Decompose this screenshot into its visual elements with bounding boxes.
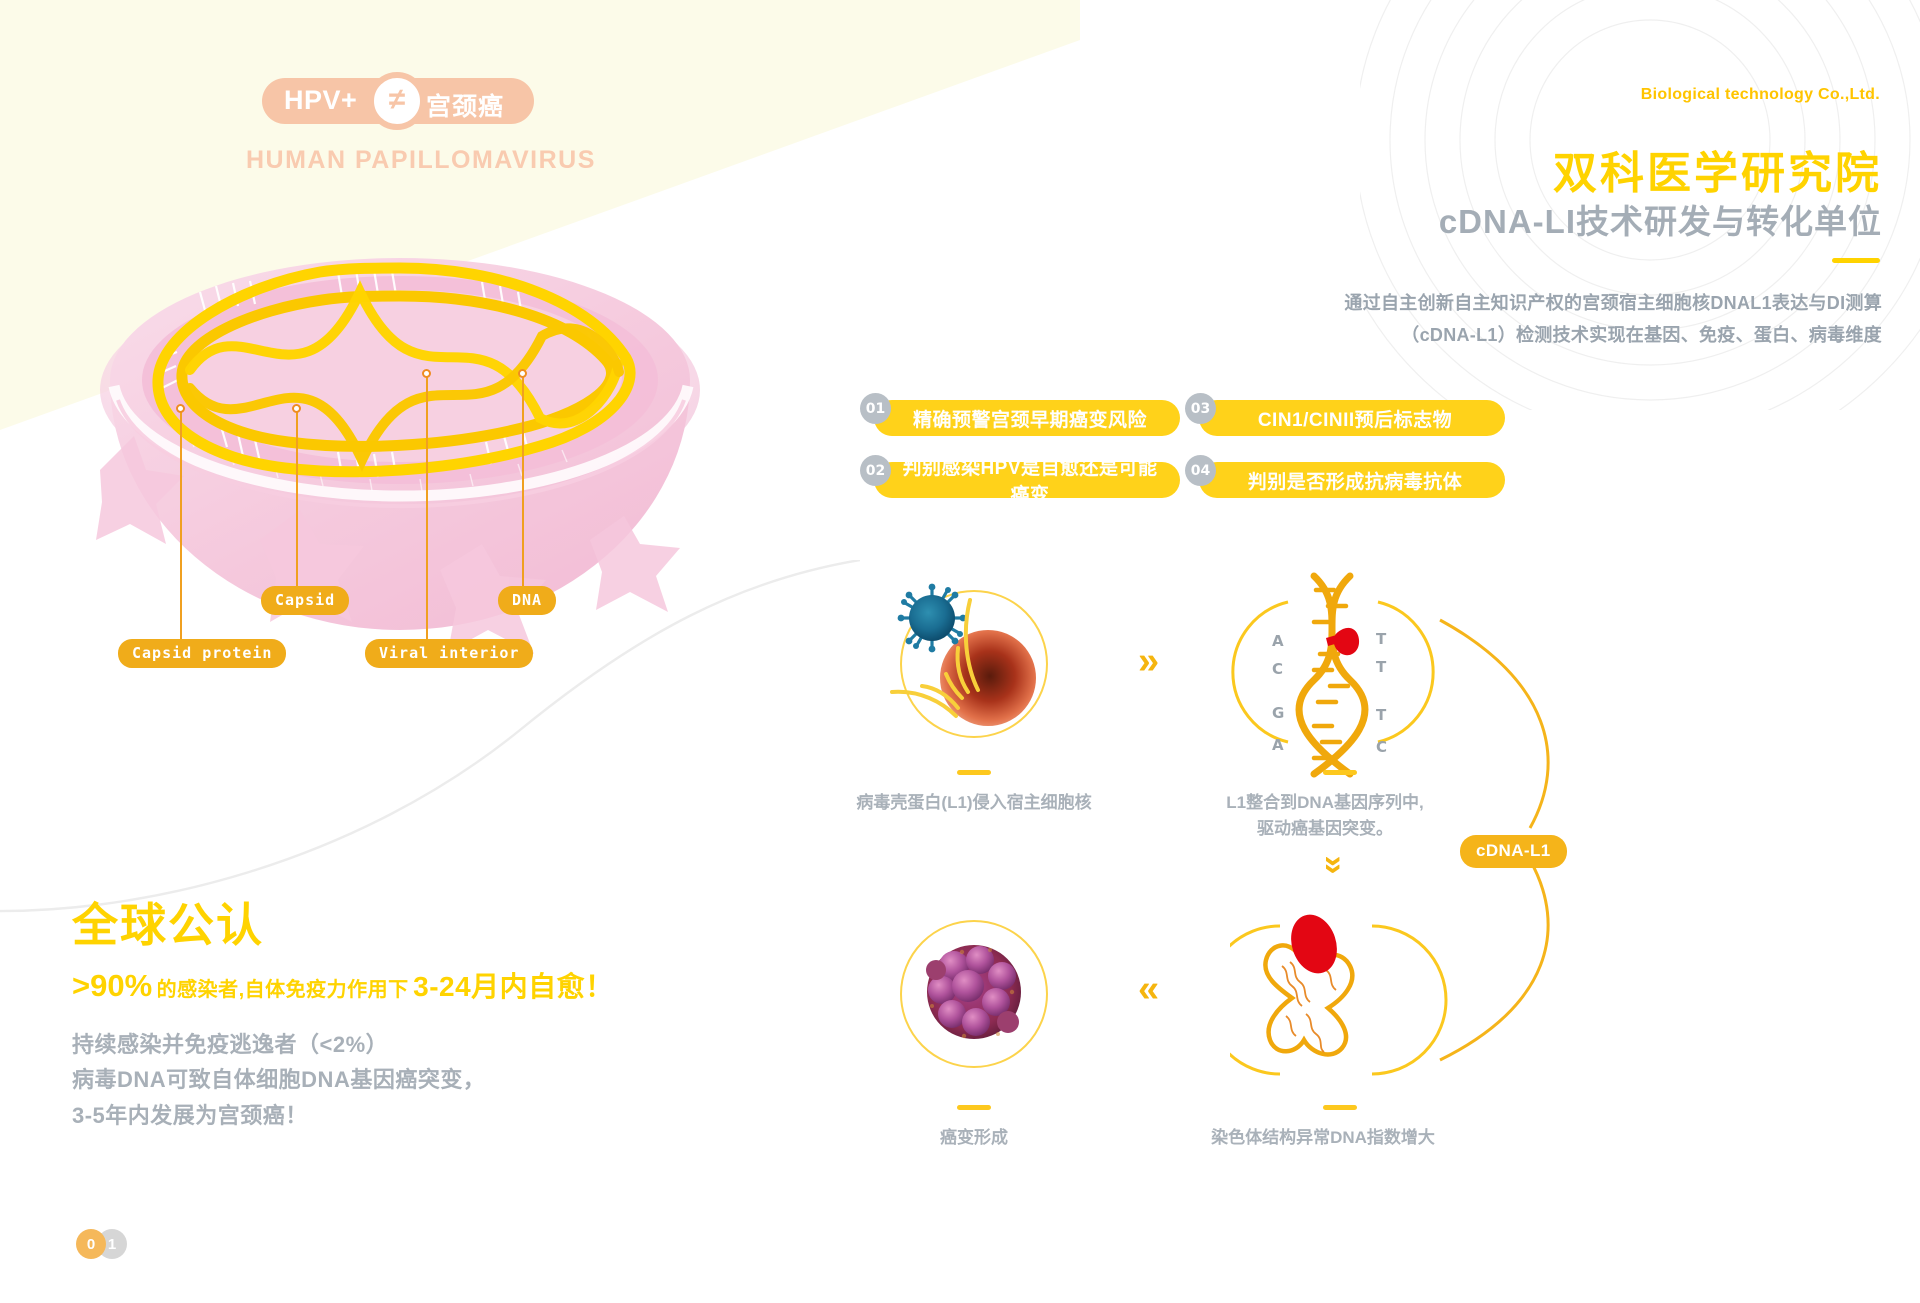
cancer-mass-illustration	[912, 930, 1062, 1080]
feature-number-04: 04	[1185, 455, 1216, 486]
global-stat-emphasis: 3-24月内自愈！	[413, 971, 614, 1002]
page-number-left: 0 1	[76, 1229, 127, 1259]
global-stat-line: >90% 的感染者,自体免疫力作用下 3-24月内自愈！	[72, 965, 772, 1005]
infographic-page: HPV+ ≠ 宫颈癌 HUMAN PAPILLOMAVIRUS	[0, 0, 1920, 1303]
cdna-l1-badge[interactable]: cDNA-L1	[1460, 835, 1567, 868]
callout-line-dna	[522, 377, 524, 587]
svg-text:A: A	[1272, 736, 1284, 754]
right-panel: Biological technology Co.,Ltd. 双科医学研究院 c…	[1040, 0, 1920, 1303]
global-recognition-block: 全球公认 >90% 的感染者,自体免疫力作用下 3-24月内自愈！ 持续感染并免…	[72, 900, 772, 1133]
step1-dash	[957, 770, 991, 775]
feature-pill-01: 精确预警宫颈早期癌变风险	[874, 400, 1180, 436]
company-tag: Biological technology Co.,Ltd.	[1641, 86, 1880, 104]
svg-text:A: A	[1272, 632, 1284, 650]
svg-text:T: T	[1376, 658, 1387, 676]
chevron-down-icon: »	[1317, 856, 1351, 875]
hpv-badge: HPV+ ≠ 宫颈癌	[262, 78, 542, 130]
process-diagram: 病毒壳蛋白(L1)侵入宿主细胞核 »	[860, 580, 1920, 1180]
feature-label-04: 判别是否形成抗病毒抗体	[1199, 467, 1505, 494]
svg-text:T: T	[1376, 630, 1387, 648]
svg-text:C: C	[1376, 738, 1387, 756]
callout-line-capsid-protein	[180, 412, 182, 640]
callout-line-capsid	[296, 412, 298, 587]
step3-dash	[957, 1105, 991, 1110]
feature-pill-03: CIN1/CINII预后标志物	[1199, 400, 1505, 436]
step4-caption: 染色体结构异常DNA指数增大	[1173, 1125, 1473, 1151]
global-stat-percent: >90%	[72, 968, 152, 1003]
feature-item-01[interactable]: 01 精确预警宫颈早期癌变风险	[860, 400, 1180, 436]
global-body-line-2: 病毒DNA可致自体细胞DNA基因癌突变，	[72, 1062, 772, 1098]
hpv-subtitle: HUMAN PAPILLOMAVIRUS	[246, 146, 596, 175]
chevron-right-icon: »	[1138, 642, 1159, 680]
feature-label-03: CIN1/CINII预后标志物	[1199, 405, 1505, 432]
callout-label-viral-interior[interactable]: Viral interior	[365, 639, 533, 668]
hpv-badge-left-text: HPV+	[284, 85, 357, 116]
feature-item-03[interactable]: 03 CIN1/CINII预后标志物	[1185, 400, 1505, 436]
callout-label-capsid[interactable]: Capsid	[261, 586, 349, 615]
title-divider	[1832, 258, 1880, 263]
svg-text:T: T	[1376, 706, 1387, 724]
global-body: 持续感染并免疫逃逸者（<2%） 病毒DNA可致自体细胞DNA基因癌突变， 3-5…	[72, 1027, 772, 1134]
chromosome-illustration	[1230, 910, 1450, 1110]
feature-label-02: 判别感染HPV是自愈还是可能癌变	[874, 453, 1180, 507]
institute-description: 通过自主创新自主知识产权的宫颈宿主细胞核DNAL1表达与DI测算 （cDNA-L…	[1262, 288, 1882, 351]
global-body-line-3: 3-5年内发展为宫颈癌！	[72, 1098, 772, 1134]
feature-number-03: 03	[1185, 393, 1216, 424]
feature-item-04[interactable]: 04 判别是否形成抗病毒抗体	[1185, 462, 1505, 498]
callout-dot-viral-interior	[422, 369, 431, 378]
feature-pill-04: 判别是否形成抗病毒抗体	[1199, 462, 1505, 498]
feature-pill-02: 判别感染HPV是自愈还是可能癌变	[874, 462, 1180, 498]
chevron-left-icon: «	[1138, 970, 1159, 1008]
institute-description-line-2: （cDNA-L1）检测技术实现在基因、免疫、蛋白、病毒维度	[1262, 320, 1882, 352]
step3-caption: 癌变形成	[824, 1125, 1124, 1151]
global-body-line-1: 持续感染并免疫逃逸者（<2%）	[72, 1027, 772, 1063]
feature-list: 01 精确预警宫颈早期癌变风险 02 判别感染HPV是自愈还是可能癌变 03 C…	[860, 400, 1920, 510]
step1-caption: 病毒壳蛋白(L1)侵入宿主细胞核	[824, 790, 1124, 816]
institute-title: 双科医学研究院	[1553, 152, 1882, 196]
callout-dot-capsid-protein	[176, 404, 185, 413]
global-title: 全球公认	[72, 900, 772, 951]
step2-dash	[1323, 770, 1357, 775]
feature-number-02: 02	[860, 455, 891, 486]
svg-text:G: G	[1272, 704, 1284, 722]
global-stat-middle: 的感染者,自体免疫力作用下	[157, 979, 409, 1001]
callout-dot-capsid	[292, 404, 301, 413]
feature-item-02[interactable]: 02 判别感染HPV是自愈还是可能癌变	[860, 462, 1180, 498]
callout-label-capsid-protein[interactable]: Capsid protein	[118, 639, 286, 668]
virus-invading-cell-illustration	[870, 570, 1100, 770]
not-equal-glyph: ≠	[389, 85, 405, 115]
page-number-left-first: 0	[76, 1229, 106, 1259]
institute-subtitle: cDNA-LI技术研发与转化单位	[1439, 205, 1882, 238]
feature-number-01: 01	[860, 393, 891, 424]
step4-dash	[1323, 1105, 1357, 1110]
callout-line-viral-interior	[426, 377, 428, 639]
callout-dot-dna	[518, 369, 527, 378]
institute-description-line-1: 通过自主创新自主知识产权的宫颈宿主细胞核DNAL1表达与DI测算	[1262, 288, 1882, 320]
virus-illustration	[70, 240, 730, 660]
callout-label-dna[interactable]: DNA	[498, 586, 556, 615]
feature-label-01: 精确预警宫颈早期癌变风险	[874, 405, 1180, 432]
not-equal-icon: ≠	[368, 72, 426, 130]
svg-text:C: C	[1272, 660, 1283, 678]
hpv-badge-right-text: 宫颈癌	[426, 87, 504, 123]
